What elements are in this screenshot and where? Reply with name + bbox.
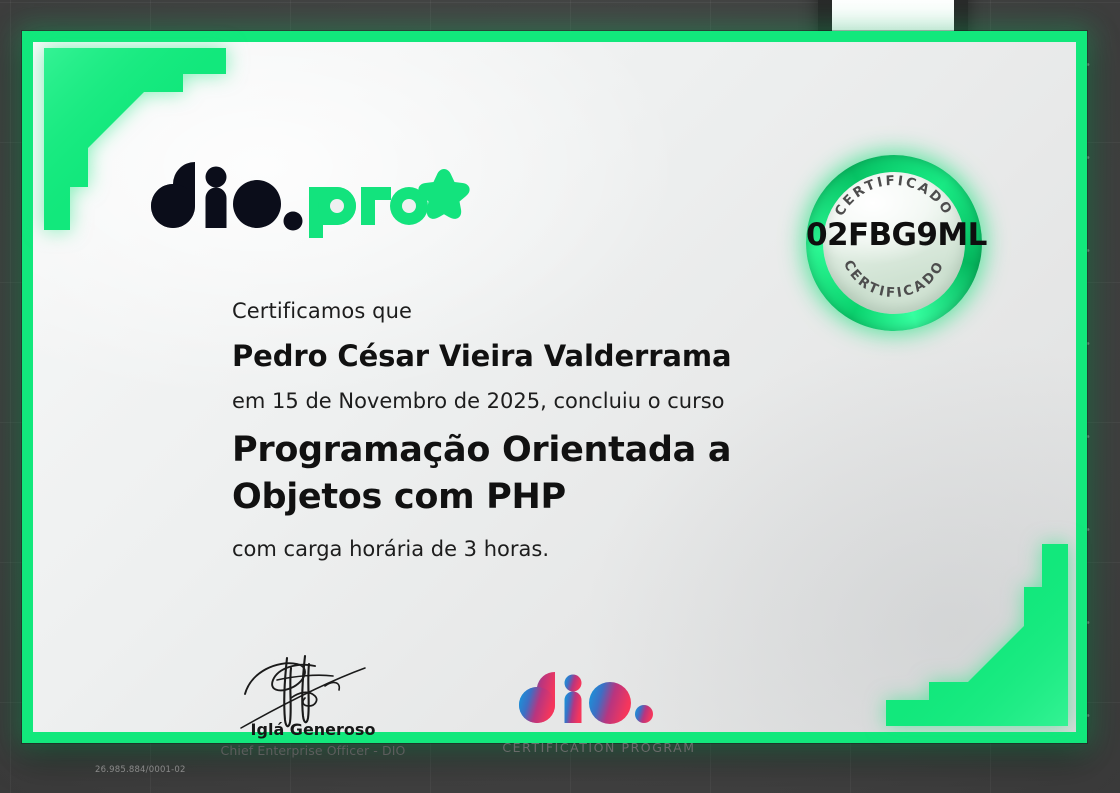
seal-code: 02FBG9ML xyxy=(806,217,982,253)
workload-line: com carga horária de 3 horas. xyxy=(232,536,932,562)
completion-date-line: em 15 de Novembro de 2025, concluiu o cu… xyxy=(232,388,932,414)
certificate-stage: Certificamos que Pedro César Vieira Vald… xyxy=(0,0,1120,793)
certificate-body: Certificamos que Pedro César Vieira Vald… xyxy=(232,298,932,563)
dio-pro-logo-mark xyxy=(151,156,471,240)
seal-arc-top: CERTIFICADO xyxy=(833,174,956,219)
signer-role: Chief Enterprise Officer - DIO xyxy=(213,743,413,758)
brand-logo xyxy=(151,156,471,240)
registration-number: 26.985.884/0001-02 xyxy=(95,765,186,775)
certification-program-logo: CERTIFICATION PROGRAM xyxy=(499,669,699,755)
signer-name: Iglá Generoso xyxy=(213,720,413,739)
recipient-name: Pedro César Vieira Valderrama xyxy=(232,339,932,374)
course-title: Programação Orientada a Objetos com PHP xyxy=(232,427,872,520)
corner-bracket-bottom-right xyxy=(886,544,1068,726)
certificate-seal: CERTIFICADO CERTIFICADO 02FBG9ML xyxy=(806,155,982,331)
dio-program-logo-mark xyxy=(513,669,685,735)
program-caption: CERTIFICATION PROGRAM xyxy=(499,740,699,755)
seal-arc-bottom: CERTIFICADO xyxy=(840,258,948,301)
certificate-card: Certificamos que Pedro César Vieira Vald… xyxy=(22,31,1087,743)
signature-block: Iglá Generoso Chief Enterprise Officer -… xyxy=(213,650,413,758)
